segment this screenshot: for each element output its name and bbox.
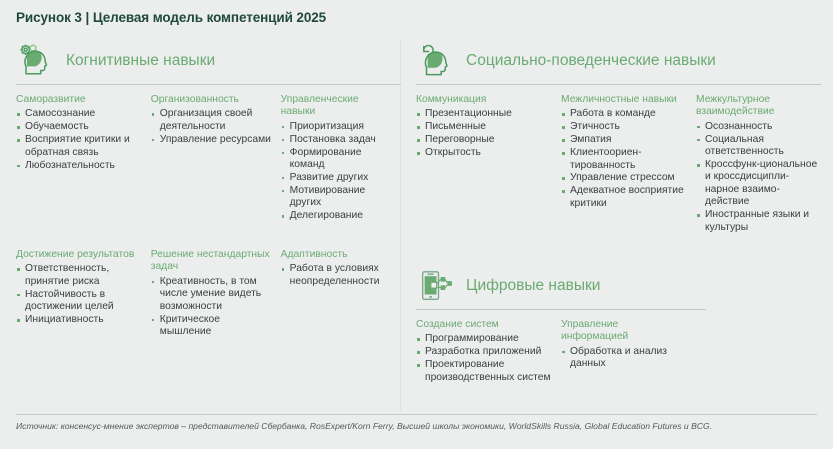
category-item-list: Обработка и анализ данных [561,346,688,371]
competency-model-figure: Рисунок 3 | Целевая модель компетенций 2… [0,0,833,449]
category-upravlencheskie-navyki: Управленческие навыки Приоритизация Пост… [281,94,401,223]
head-gears-icon [16,41,56,81]
category-item-list: Организация своей деятельности Управлени… [151,108,273,146]
category-item-list: Презентационные Письменные Переговорные … [416,108,553,159]
list-item: Обработка и анализ данных [561,346,688,371]
category-title: Управленческие навыки [281,94,393,119]
category-title: Решение нестандартных задач [151,249,273,274]
list-item: Управление стрессом [561,172,688,184]
category-sozdanie-sistem: Создание систем Программирование Разрабо… [416,319,561,385]
list-item: Этичность [561,121,688,133]
panel-digital-row-1: Создание систем Программирование Разрабо… [416,319,706,385]
source-divider [16,414,817,415]
panel-cognitive-header: Когнитивные навыки [16,40,401,82]
category-upravlenie-informaciej: Управление информацией Обработка и анали… [561,319,696,385]
panel-cognitive-row-1: Саморазвитие Самосознание Обучаемость Во… [16,94,401,223]
category-item-list: Креативность, в том числе умение видеть … [151,276,273,339]
category-organizovannost: Организованность Организация своей деяте… [151,94,281,223]
panel-social-header: Социально-поведенческие навыки [416,40,821,82]
category-adaptivnost: Адаптивность Работа в условиях неопредел… [281,249,401,339]
panel-digital-header: Цифровые навыки [416,265,706,307]
smartphone-network-icon [416,266,456,306]
panel-social-rule [416,84,821,85]
list-item: Презентационные [416,108,553,120]
panel-digital-title: Цифровые навыки [466,277,600,295]
panel-cognitive: Когнитивные навыки Саморазвитие Самосозн… [16,40,401,339]
list-item: Развитие других [281,172,393,184]
source-note: Источник: консенсус-мнение экспертов – п… [16,421,712,431]
category-title: Достижение результатов [16,249,143,261]
panel-social: Социально-поведенческие навыки Коммуника… [416,40,821,234]
list-item: Восприятие критики и обратная связь [16,134,143,159]
list-item: Креативность, в том числе умение видеть … [151,276,273,313]
panel-digital: Цифровые навыки Создание систем Программ… [416,265,706,385]
category-item-list: Приоритизация Постановка задач Формирова… [281,121,393,223]
list-item: Формирование команд [281,147,393,172]
category-title: Межличностные навыки [561,94,688,106]
category-item-list: Программирование Разработка приложений П… [416,333,553,384]
category-item-list: Осознанность Социальная ответственность … [696,121,821,234]
list-item: Эмпатия [561,134,688,146]
list-item: Проектирование производственных систем [416,359,553,384]
category-samorazvitie: Саморазвитие Самосознание Обучаемость Во… [16,94,151,223]
page-title: Рисунок 3 | Целевая модель компетенций 2… [16,10,326,25]
category-title: Саморазвитие [16,94,143,106]
panel-cognitive-title: Когнитивные навыки [66,52,215,70]
list-item: Управление ресурсами [151,134,273,146]
list-item: Критическое мышление [151,314,273,339]
list-item: Ответственность, принятие риска [16,263,143,288]
list-item: Разработка приложений [416,346,553,358]
list-item: Приоритизация [281,121,393,133]
category-item-list: Самосознание Обучаемость Восприятие крит… [16,108,143,172]
panel-social-title: Социально-поведенческие навыки [466,52,716,70]
panel-cognitive-rule [16,84,401,85]
category-title: Коммуникация [416,94,553,106]
list-item: Мотивирование других [281,185,393,210]
list-item: Организация своей деятельности [151,108,273,133]
category-title: Создание систем [416,319,553,331]
list-item: Постановка задач [281,134,393,146]
category-title: Управление информацией [561,319,688,344]
head-refresh-icon [416,41,456,81]
list-item: Переговорные [416,134,553,146]
category-item-list: Работа в команде Этичность Эмпатия Клиен… [561,108,688,210]
list-item: Работа в условиях неопределенности [281,263,393,288]
list-item: Открытость [416,147,553,159]
list-item: Любознательность [16,160,143,172]
category-reshenie-nestandartnyh-zadach: Решение нестандартных задач Креативность… [151,249,281,339]
list-item: Настойчивость в достижении целей [16,289,143,314]
list-item: Письменные [416,121,553,133]
panel-digital-rule [416,309,706,310]
list-item: Клиентоориен-тированность [561,147,688,172]
list-item: Иностранные языки и культуры [696,209,821,234]
category-dostizhenie-rezultatov: Достижение результатов Ответственность, … [16,249,151,339]
category-item-list: Работа в условиях неопределенности [281,263,393,288]
list-item: Адекватное восприятие критики [561,185,688,210]
category-mezhlichnostnye-navyki: Межличностные навыки Работа в команде Эт… [561,94,696,234]
list-item: Осознанность [696,121,821,133]
list-item: Самосознание [16,108,143,120]
panel-social-row-1: Коммуникация Презентационные Письменные … [416,94,821,234]
panel-cognitive-row-2: Достижение результатов Ответственность, … [16,249,401,339]
category-mezhkulturnoe-vzaimodejstvie: Межкультурное взаимодействие Осознанност… [696,94,821,234]
category-item-list: Ответственность, принятие риска Настойчи… [16,263,143,326]
list-item: Работа в команде [561,108,688,120]
category-title: Организованность [151,94,273,106]
list-item: Социальная ответственность [696,134,821,159]
list-item: Кроссфунк-циональное и кроссдисципли-нар… [696,159,821,209]
list-item: Делегирование [281,210,393,222]
list-item: Обучаемость [16,121,143,133]
category-kommunikaciya: Коммуникация Презентационные Письменные … [416,94,561,234]
category-title: Межкультурное взаимодействие [696,94,821,119]
list-item: Программирование [416,333,553,345]
category-title: Адаптивность [281,249,393,261]
list-item: Инициативность [16,314,143,326]
